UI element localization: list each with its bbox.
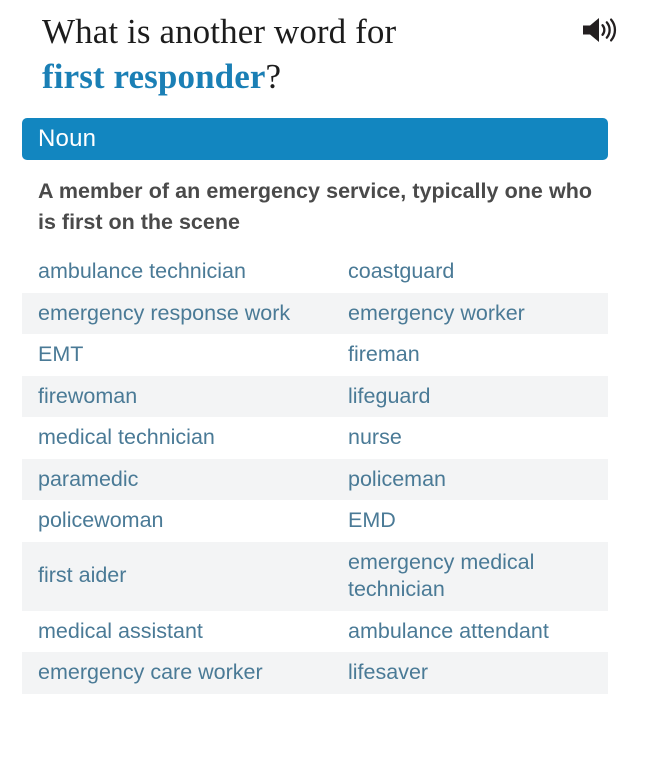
synonym-cell: emergency care worker: [22, 652, 332, 694]
synonym-cell: medical assistant: [22, 611, 332, 653]
definition-text: A member of an emergency service, typica…: [22, 160, 608, 251]
question-prefix: What is another word for: [42, 12, 396, 51]
synonym-link[interactable]: medical assistant: [38, 619, 203, 643]
table-row: ambulance technician coastguard: [22, 251, 608, 293]
synonym-cell: emergency worker: [332, 293, 608, 335]
synonyms-table-body: ambulance technician coastguard emergenc…: [22, 251, 608, 694]
synonym-cell: policewoman: [22, 500, 332, 542]
synonym-cell: medical technician: [22, 417, 332, 459]
synonym-cell: lifesaver: [332, 652, 608, 694]
synonym-link[interactable]: lifeguard: [348, 384, 430, 408]
synonym-cell: policeman: [332, 459, 608, 501]
table-row: policewoman EMD: [22, 500, 608, 542]
table-row: medical assistant ambulance attendant: [22, 611, 608, 653]
table-row: emergency response work emergency worker: [22, 293, 608, 335]
synonym-link[interactable]: EMT: [38, 342, 83, 366]
table-row: EMT fireman: [22, 334, 608, 376]
part-of-speech-label: Noun: [38, 127, 96, 151]
table-row: first aider emergency medical technician: [22, 542, 608, 611]
synonym-cell: ambulance technician: [22, 251, 332, 293]
synonym-cell: firewoman: [22, 376, 332, 418]
part-of-speech-header: Noun: [22, 118, 608, 160]
synonym-link[interactable]: coastguard: [348, 259, 454, 283]
synonym-link[interactable]: firewoman: [38, 384, 137, 408]
synonym-link[interactable]: emergency worker: [348, 301, 525, 325]
page-title: What is another word forfirst responder?: [42, 10, 624, 100]
synonym-cell: EMT: [22, 334, 332, 376]
pronounce-button[interactable]: [578, 14, 624, 48]
synonym-cell: lifeguard: [332, 376, 608, 418]
synonym-link[interactable]: EMD: [348, 508, 396, 532]
table-row: firewoman lifeguard: [22, 376, 608, 418]
question-punctuation: ?: [265, 57, 281, 96]
synonym-link[interactable]: fireman: [348, 342, 420, 366]
synonym-link[interactable]: policeman: [348, 467, 446, 491]
synonym-link[interactable]: medical technician: [38, 425, 215, 449]
synonym-link[interactable]: paramedic: [38, 467, 138, 491]
synonym-link[interactable]: emergency response work: [38, 301, 290, 325]
synonym-link[interactable]: ambulance attendant: [348, 619, 549, 643]
synonym-cell: fireman: [332, 334, 608, 376]
synonym-cell: coastguard: [332, 251, 608, 293]
synonym-link[interactable]: policewoman: [38, 508, 163, 532]
synonym-link[interactable]: first aider: [38, 563, 126, 587]
synonym-link[interactable]: ambulance technician: [38, 259, 246, 283]
question-header: What is another word forfirst responder?: [0, 0, 650, 100]
synonym-link[interactable]: emergency medical technician: [348, 550, 534, 602]
synonym-cell: first aider: [22, 542, 332, 611]
synonym-link[interactable]: nurse: [348, 425, 402, 449]
table-row: medical technician nurse: [22, 417, 608, 459]
synonym-cell: EMD: [332, 500, 608, 542]
synonym-cell: nurse: [332, 417, 608, 459]
synonym-link[interactable]: lifesaver: [348, 660, 428, 684]
table-row: paramedic policeman: [22, 459, 608, 501]
speaker-audio-icon: [581, 15, 621, 48]
synonym-cell: emergency medical technician: [332, 542, 608, 611]
table-row: emergency care worker lifesaver: [22, 652, 608, 694]
synonym-cell: ambulance attendant: [332, 611, 608, 653]
synonym-cell: paramedic: [22, 459, 332, 501]
synonym-cell: emergency response work: [22, 293, 332, 335]
question-term: first responder: [42, 57, 265, 96]
entry-card: Noun A member of an emergency service, t…: [22, 118, 608, 694]
synonyms-table: ambulance technician coastguard emergenc…: [22, 251, 608, 694]
thesaurus-page: What is another word forfirst responder?…: [0, 0, 650, 775]
synonym-link[interactable]: emergency care worker: [38, 660, 263, 684]
